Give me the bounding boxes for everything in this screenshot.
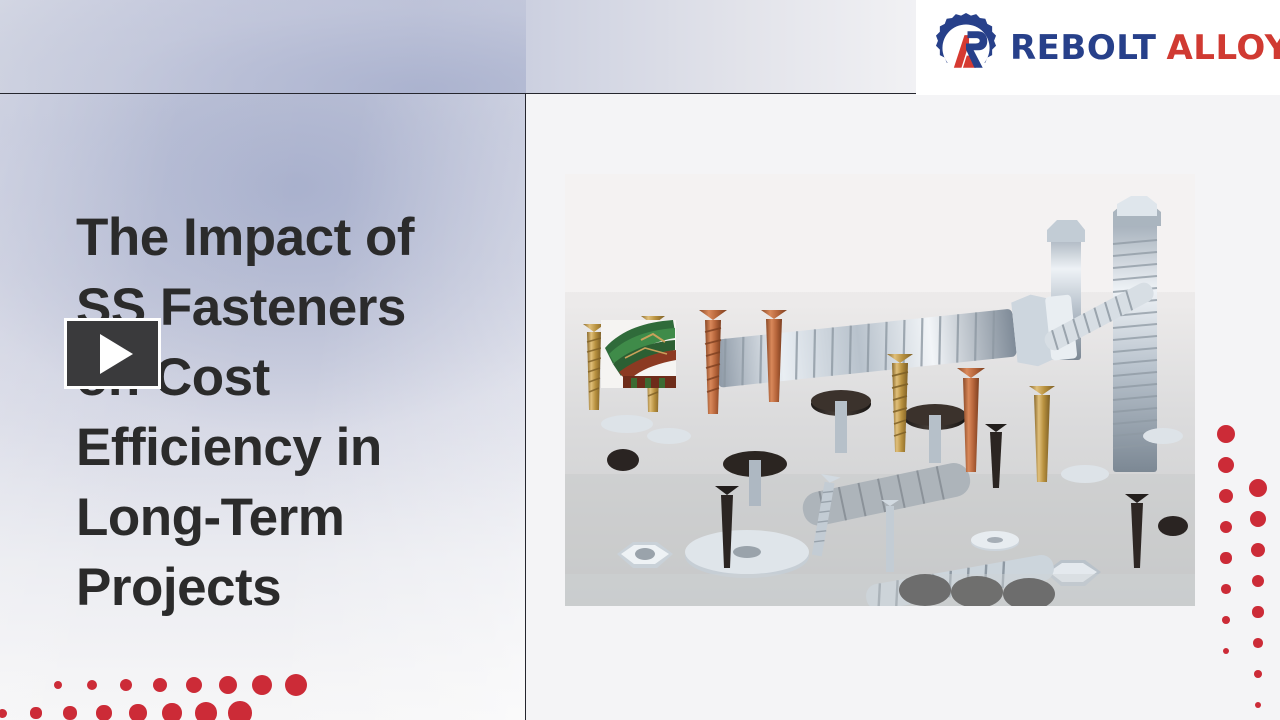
pagoda-illustration	[601, 320, 676, 388]
decorative-dot	[1219, 489, 1234, 504]
decorative-dot	[129, 704, 146, 720]
brand-logo[interactable]: REBOLTALLOYS	[916, 0, 1280, 95]
brand-word-alloys: ALLOYS	[1166, 28, 1280, 68]
play-button[interactable]	[64, 318, 161, 389]
decorative-dot	[54, 681, 62, 689]
page-title: The Impact of SS Fasteners on Cost Effic…	[76, 203, 476, 623]
decorative-dots-right	[1200, 420, 1280, 710]
decorative-dot	[186, 677, 202, 693]
decorative-dot	[252, 675, 273, 696]
decorative-dot	[1252, 575, 1265, 588]
decorative-dot	[1255, 702, 1261, 708]
decorative-dot	[153, 678, 167, 692]
decorative-dot	[1250, 511, 1266, 527]
header-divider-line	[0, 93, 916, 94]
decorative-dot	[1251, 543, 1266, 558]
decorative-dot	[96, 705, 111, 720]
decorative-dot	[162, 703, 182, 720]
brand-wordmark: REBOLTALLOYS	[1010, 31, 1280, 65]
decorative-dot	[1254, 670, 1262, 678]
decorative-dot	[1220, 552, 1231, 563]
decorative-dot	[219, 676, 238, 695]
decorative-dot	[228, 701, 252, 720]
decorative-dot	[0, 709, 7, 718]
decorative-dot	[87, 680, 97, 690]
decorative-dot	[1220, 521, 1233, 534]
decorative-dot	[30, 707, 41, 718]
decorative-dot	[195, 702, 217, 720]
decorative-dot	[1217, 425, 1235, 443]
gear-monogram-logo-icon	[928, 10, 1004, 86]
right-top-gradient-strip	[526, 0, 916, 93]
decorative-dot	[1249, 479, 1267, 497]
decorative-dot	[1252, 606, 1263, 617]
vertical-divider-line	[525, 94, 526, 720]
decorative-dots-bottom-left	[0, 655, 330, 720]
decorative-dot	[1222, 616, 1230, 624]
play-triangle-icon	[100, 334, 133, 374]
decorative-dot	[1218, 457, 1234, 473]
main-photo-fasteners	[565, 174, 1195, 606]
decorative-dot	[1221, 584, 1231, 594]
decorative-dot	[63, 706, 76, 719]
fasteners-illustration	[565, 174, 1195, 606]
decorative-dot	[285, 674, 308, 697]
decorative-dot	[120, 679, 132, 691]
presentation-slide: REBOLTALLOYS The Impact of SS Fasteners …	[0, 0, 1280, 720]
decorative-dot	[1223, 648, 1229, 654]
decorative-dot	[1253, 638, 1263, 648]
inset-photo-pagoda	[601, 320, 676, 388]
brand-word-rebolt: REBOLT	[1010, 28, 1156, 68]
